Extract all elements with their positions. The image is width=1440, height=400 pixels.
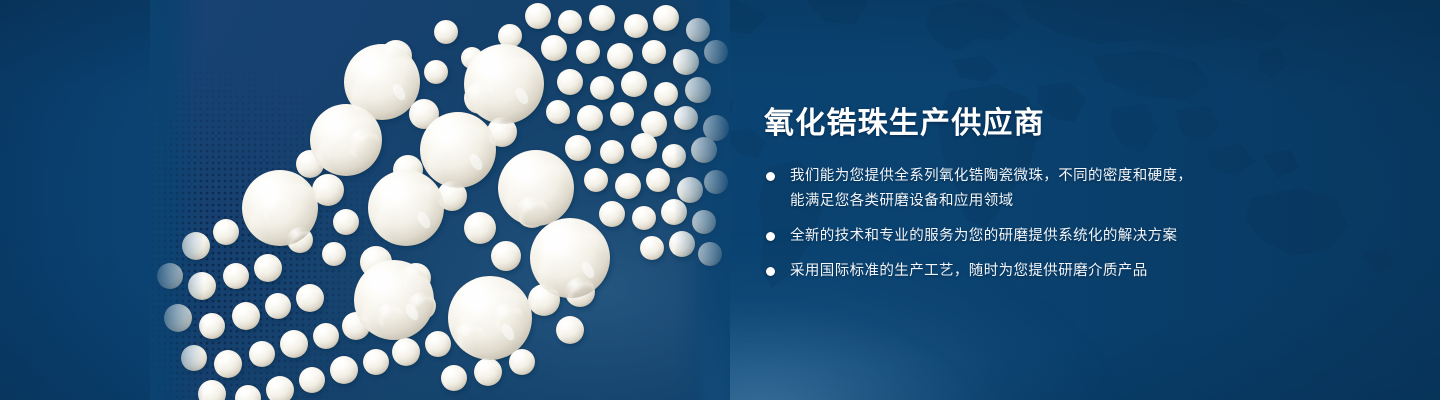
list-item: 全新的技术和专业的服务为您的研磨提供系统化的解决方案 <box>764 224 1304 249</box>
bullet-dot-icon <box>766 172 775 181</box>
list-item-line: 能满足您各类研磨设备和应用领域 <box>790 189 1304 214</box>
list-item-line: 采用国际标准的生产工艺，随时为您提供研磨介质产品 <box>790 259 1304 284</box>
list-item-line: 我们能为您提供全系列氧化锆陶瓷微珠，不同的密度和硬度， <box>790 164 1304 189</box>
feature-list: 我们能为您提供全系列氧化锆陶瓷微珠，不同的密度和硬度， 能满足您各类研磨设备和应… <box>764 164 1304 284</box>
list-item: 采用国际标准的生产工艺，随时为您提供研磨介质产品 <box>764 259 1304 284</box>
list-item: 我们能为您提供全系列氧化锆陶瓷微珠，不同的密度和硬度， 能满足您各类研磨设备和应… <box>764 164 1304 214</box>
bullet-dot-icon <box>766 232 775 241</box>
banner-copy: 氧化锆珠生产供应商 我们能为您提供全系列氧化锆陶瓷微珠，不同的密度和硬度， 能满… <box>764 104 1304 284</box>
bullet-dot-icon <box>766 267 775 276</box>
list-item-line: 全新的技术和专业的服务为您的研磨提供系统化的解决方案 <box>790 224 1304 249</box>
ceramic-beads-illustration <box>150 0 730 400</box>
zirconia-beads-photo <box>150 0 730 400</box>
hero-banner: 氧化锆珠生产供应商 我们能为您提供全系列氧化锆陶瓷微珠，不同的密度和硬度， 能满… <box>0 0 1440 400</box>
page-title: 氧化锆珠生产供应商 <box>764 104 1304 144</box>
